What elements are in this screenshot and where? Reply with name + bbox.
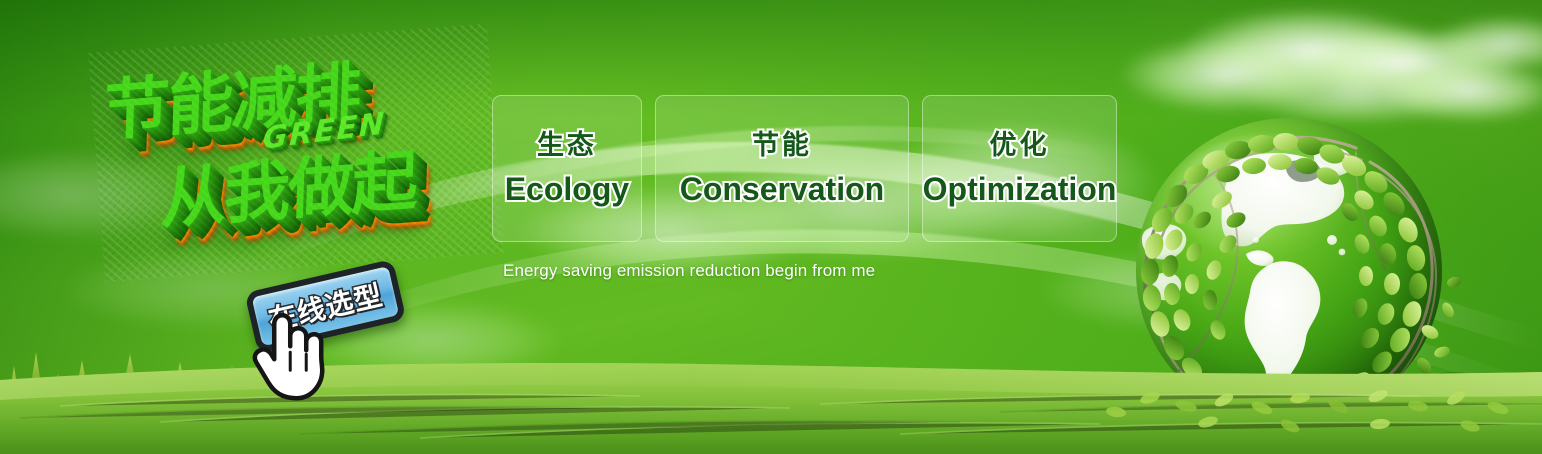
feature-cards: 生态 Ecology 节能 Conservation 优化 Optimizati…: [492, 95, 1117, 242]
feature-card-en-label: Optimization: [923, 173, 1117, 205]
feature-card-cn-label: 节能: [752, 132, 812, 159]
meadow-ground: [0, 334, 1542, 454]
feature-card-en-label: Ecology: [505, 173, 629, 205]
feature-card-cn-label: 生态: [537, 132, 597, 159]
tagline: Energy saving emission reduction begin f…: [503, 261, 875, 281]
hero-title-3d: 节能减排 从我做起 GREEN: [88, 24, 504, 283]
feature-card-en-label: Conservation: [680, 173, 884, 205]
feature-card-optimization[interactable]: 优化 Optimization: [922, 95, 1117, 242]
pointer-hand-icon: [252, 312, 330, 404]
feature-card-conservation[interactable]: 节能 Conservation: [655, 95, 909, 242]
feature-card-ecology[interactable]: 生态 Ecology: [492, 95, 642, 242]
green-banner: 节能减排 从我做起 GREEN 在线选型 生态 Ecology 节能 Cons: [0, 0, 1542, 454]
feature-card-cn-label: 优化: [990, 132, 1050, 159]
